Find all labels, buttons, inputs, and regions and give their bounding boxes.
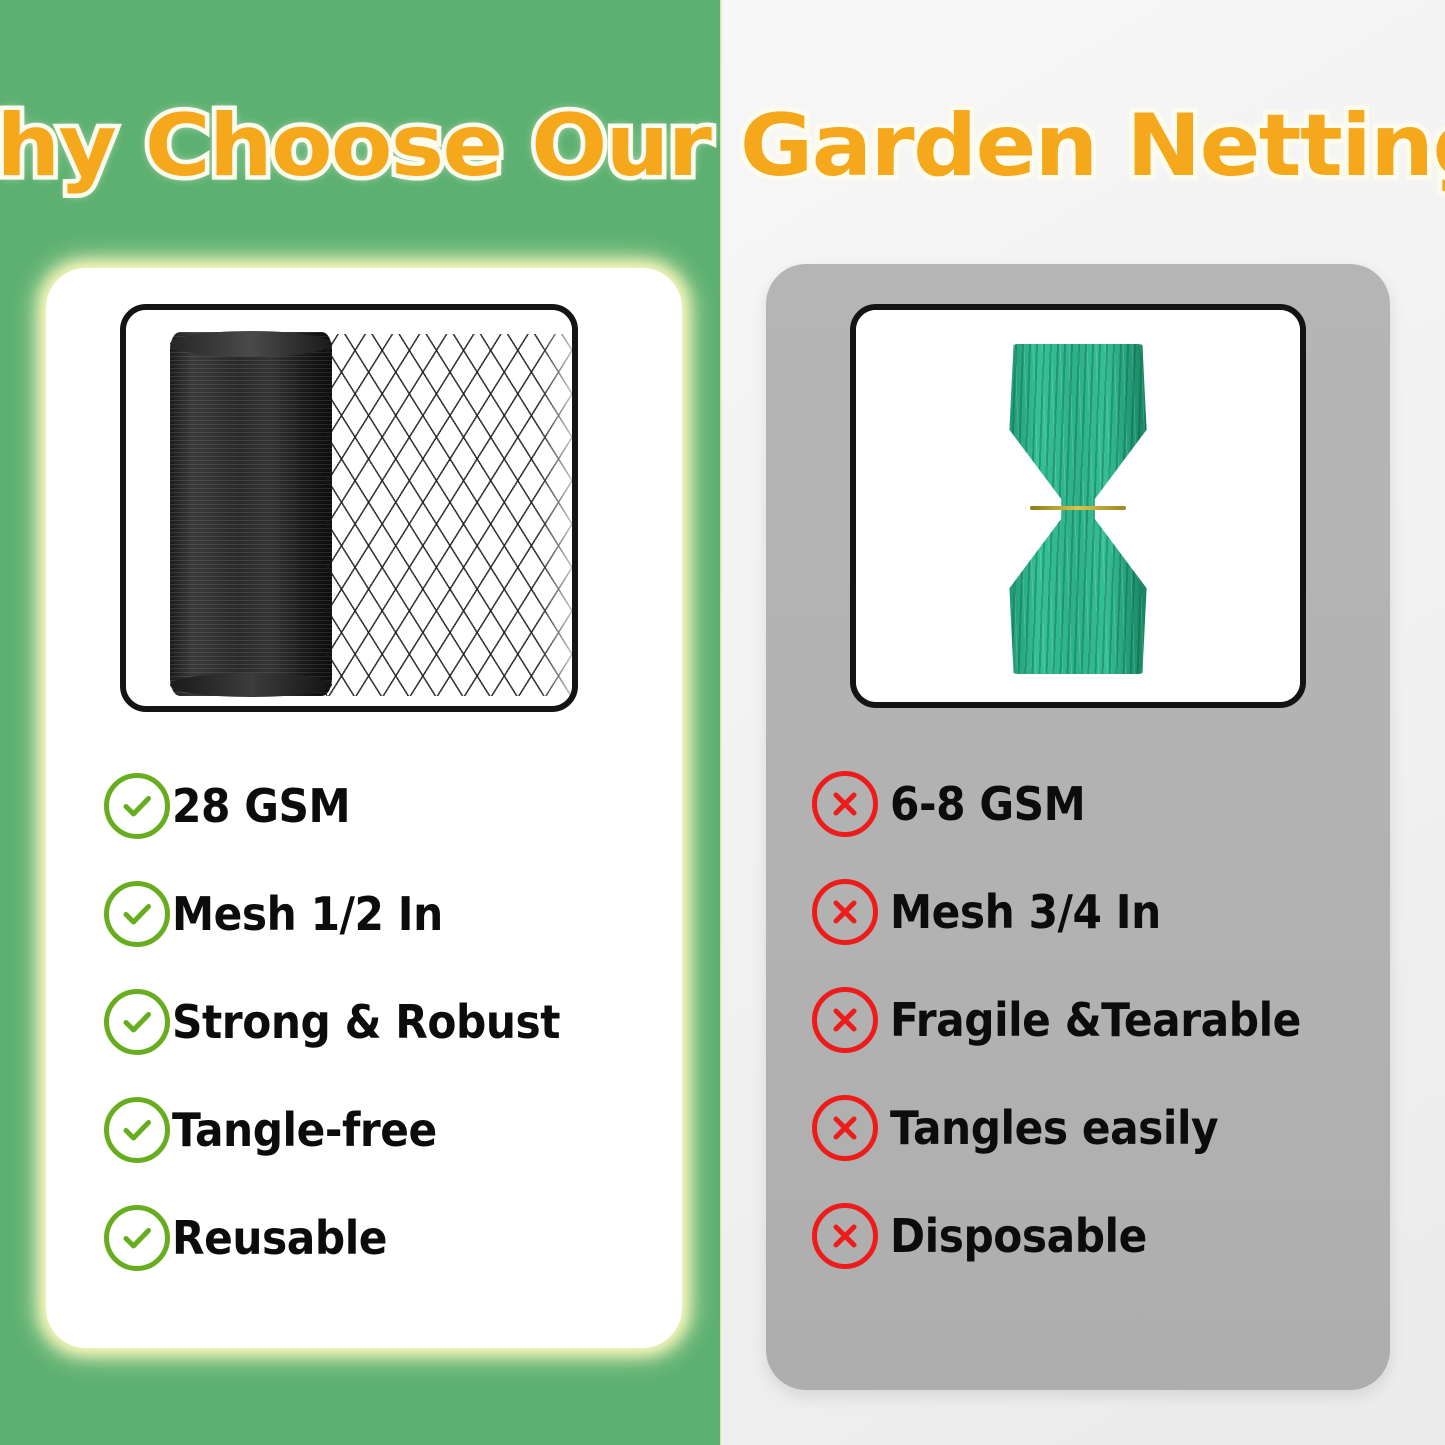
check-icon [104,1205,170,1271]
feature-label: Strong & Robust [172,999,560,1045]
feature-label: Disposable [890,1213,1147,1259]
netting-roll-shape [170,332,332,696]
feature-label: Fragile &Tearable [890,997,1301,1043]
feature-label: Mesh 1/2 In [172,891,443,937]
cross-icon [812,987,878,1053]
green-netting-image [856,310,1300,702]
our-product-feature-list: 28 GSM Mesh 1/2 In Strong & Robust [46,752,682,1292]
cross-icon [812,879,878,945]
feature-label: Tangle-free [172,1107,437,1153]
check-icon [104,881,170,947]
page-title: Why Choose Our Garden Netting? [0,86,1445,206]
list-item: Fragile &Tearable [766,966,1390,1074]
comparison-infographic: Why Choose Our Garden Netting? 28 GSM [0,0,1445,1445]
panel-divider [720,0,723,1445]
list-item: Mesh 3/4 In [766,858,1390,966]
check-icon [104,1097,170,1163]
check-icon [104,773,170,839]
feature-label: 28 GSM [172,783,350,829]
competitor-feature-list: 6-8 GSM Mesh 3/4 In Fragile &Tearable [766,750,1390,1290]
list-item: 6-8 GSM [766,750,1390,858]
our-product-photo [120,304,578,712]
feature-label: Mesh 3/4 In [890,889,1161,935]
feature-label: 6-8 GSM [890,781,1085,827]
list-item: Tangles easily [766,1074,1390,1182]
black-netting-image [126,310,572,706]
diamond-mesh-pattern [326,334,574,696]
feature-label: Tangles easily [890,1105,1218,1151]
list-item: Strong & Robust [46,968,682,1076]
cross-icon [812,1203,878,1269]
list-item: Reusable [46,1184,682,1292]
list-item: Tangle-free [46,1076,682,1184]
feature-label: Reusable [172,1215,387,1261]
competitor-product-photo [850,304,1306,708]
list-item: Disposable [766,1182,1390,1290]
page-title-text: Why Choose Our Garden Netting? [0,103,1445,189]
bundle-tie-string [1030,506,1126,510]
check-icon [104,989,170,1055]
competitor-product-card: 6-8 GSM Mesh 3/4 In Fragile &Tearable [766,264,1390,1390]
list-item: 28 GSM [46,752,682,860]
our-product-card: 28 GSM Mesh 1/2 In Strong & Robust [46,268,682,1348]
cross-icon [812,1095,878,1161]
list-item: Mesh 1/2 In [46,860,682,968]
cross-icon [812,771,878,837]
